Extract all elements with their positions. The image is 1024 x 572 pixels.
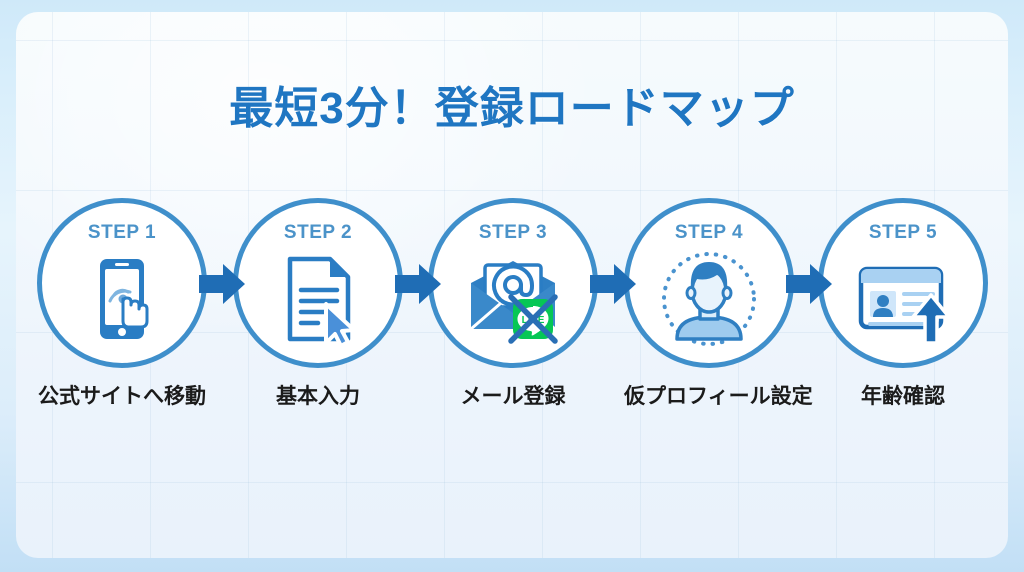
grid-line-horizontal	[16, 40, 1008, 41]
step-circle-5: STEP 5	[818, 198, 988, 368]
step-label-1: 公式サイトへ移動	[37, 380, 207, 410]
step-item-1[interactable]: STEP 1 公式サイトへ	[37, 198, 207, 410]
step-label-2: 基本入力	[233, 380, 403, 410]
page-title: 最短3分！登録ロードマップ	[0, 72, 1024, 136]
step-label-4: 仮プロフィール設定	[624, 380, 794, 410]
smartphone-tap-icon	[70, 247, 174, 351]
email-at-no-line-icon: LINE	[461, 247, 565, 351]
step-circle-4: STEP 4	[624, 198, 794, 368]
arrow-step3-to-step4	[590, 264, 636, 304]
step-number-2: STEP 2	[238, 222, 398, 244]
step-number-5: STEP 5	[823, 222, 983, 244]
step-circle-1: STEP 1	[37, 198, 207, 368]
grid-line-horizontal	[16, 190, 1008, 191]
step-label-3: メール登録	[428, 380, 598, 410]
step-item-4[interactable]: STEP 4	[624, 198, 794, 410]
step-label-5: 年齢確認	[818, 380, 988, 410]
steps-row: STEP 1 公式サイトへ	[0, 198, 1024, 418]
arrow-step1-to-step2	[199, 264, 245, 304]
step-item-5[interactable]: STEP 5	[818, 198, 988, 410]
arrow-step2-to-step3	[395, 264, 441, 304]
registration-roadmap-infographic: 最短3分！登録ロードマップ STEP 1	[0, 0, 1024, 572]
grid-line-horizontal	[16, 482, 1008, 483]
id-card-upload-icon	[851, 247, 955, 351]
step-item-2[interactable]: STEP 2 基本入力	[233, 198, 403, 410]
arrow-step4-to-step5	[786, 264, 832, 304]
document-cursor-icon	[266, 247, 370, 351]
step-item-3[interactable]: STEP 3	[428, 198, 598, 410]
step-circle-2: STEP 2	[233, 198, 403, 368]
user-profile-dotted-icon	[657, 247, 761, 351]
step-number-3: STEP 3	[433, 222, 593, 244]
step-number-4: STEP 4	[629, 222, 789, 244]
step-number-1: STEP 1	[42, 222, 202, 244]
step-circle-3: STEP 3	[428, 198, 598, 368]
